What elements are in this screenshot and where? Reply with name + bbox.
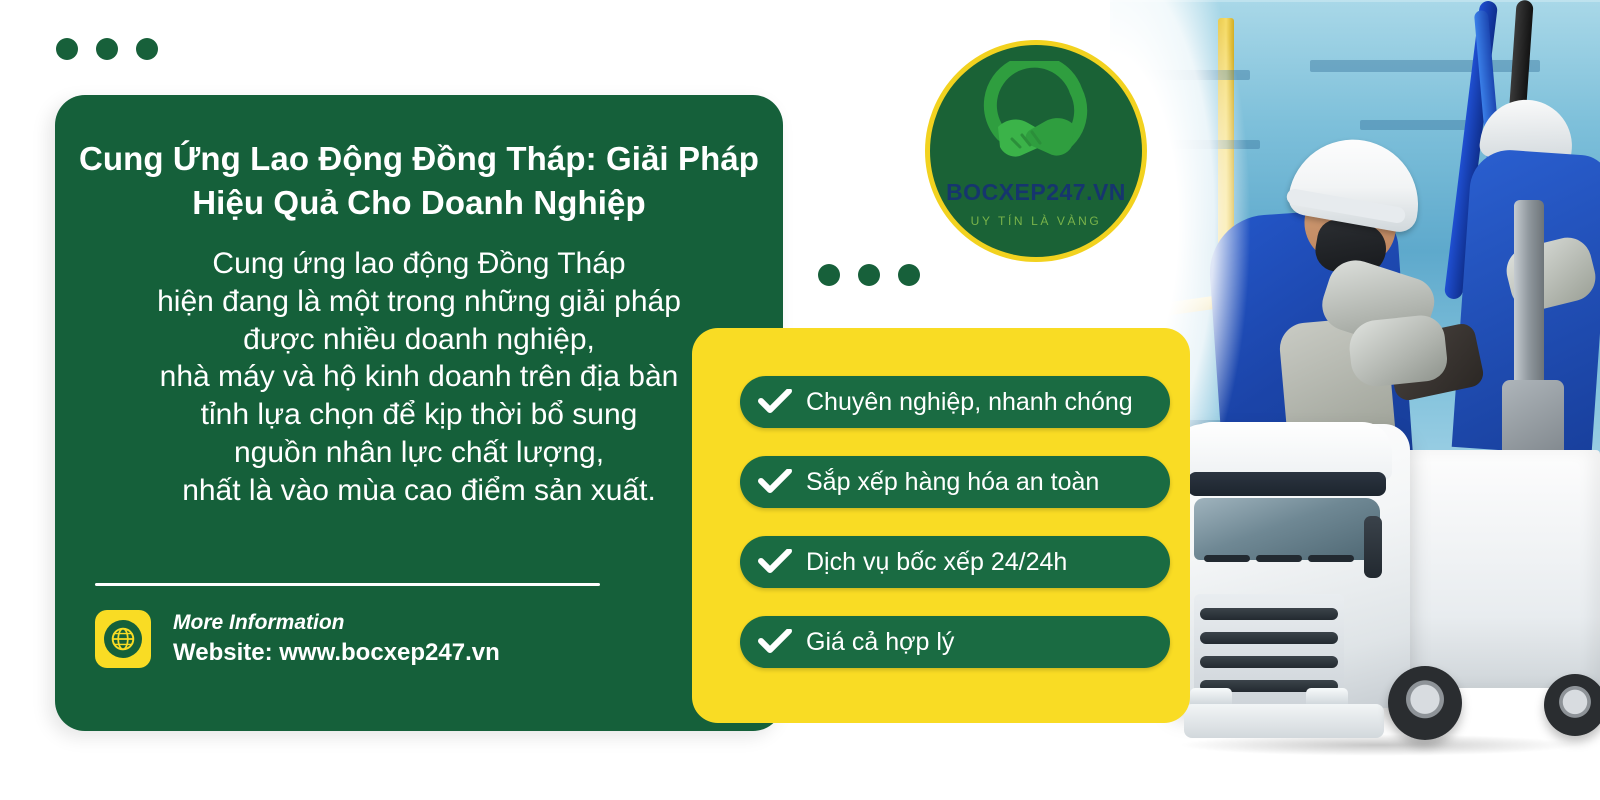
truck-wiper xyxy=(1256,555,1302,562)
website-label[interactable]: Website: www.bocxep247.vn xyxy=(173,639,500,667)
green-content-card: Cung Ứng Lao Động Đồng Tháp: Giải Pháp H… xyxy=(55,95,783,731)
contact-block: More Information Website: www.bocxep247.… xyxy=(95,610,500,668)
truck-wiper xyxy=(1308,555,1354,562)
feature-item[interactable]: Chuyên nghiệp, nhanh chóng xyxy=(740,376,1170,428)
worker-glove xyxy=(1347,313,1449,389)
feature-item[interactable]: Giá cả hợp lý xyxy=(740,616,1170,668)
decor-dots-top-left xyxy=(56,38,158,60)
feature-label: Sắp xếp hàng hóa an toàn xyxy=(806,468,1099,497)
handshake-icon xyxy=(972,61,1100,177)
decor-dots-middle xyxy=(818,264,920,286)
feature-label: Dịch vụ bốc xếp 24/24h xyxy=(806,548,1067,577)
decor-dot xyxy=(136,38,158,60)
card-body-text: Cung ứng lao động Đồng Tháp hiện đang là… xyxy=(55,245,783,510)
factory-rack xyxy=(1310,60,1540,72)
logo-name: BOCXEP247.VN xyxy=(946,179,1126,206)
globe-icon xyxy=(95,610,151,668)
more-information-label: More Information xyxy=(173,611,500,635)
feature-list: Chuyên nghiệp, nhanh chóng Sắp xếp hàng … xyxy=(740,376,1170,668)
truck-wiper xyxy=(1204,555,1250,562)
check-icon xyxy=(758,629,792,655)
truck-wheel xyxy=(1544,674,1600,736)
feature-item[interactable]: Dịch vụ bốc xếp 24/24h xyxy=(740,536,1170,588)
feature-label: Chuyên nghiệp, nhanh chóng xyxy=(806,388,1133,417)
truck-windshield xyxy=(1194,498,1380,560)
truck-trailer xyxy=(1386,450,1600,688)
check-icon xyxy=(758,549,792,575)
feature-panel: Chuyên nghiệp, nhanh chóng Sắp xếp hàng … xyxy=(692,328,1190,723)
decor-dot xyxy=(96,38,118,60)
promo-banner: Cung Ứng Lao Động Đồng Tháp: Giải Pháp H… xyxy=(0,0,1600,800)
card-title: Cung Ứng Lao Động Đồng Tháp: Giải Pháp H… xyxy=(55,137,783,224)
logo-tagline: UY TÍN LÀ VÀNG xyxy=(971,214,1102,228)
feature-label: Giá cả hợp lý xyxy=(806,628,954,657)
feature-item[interactable]: Sắp xếp hàng hóa an toàn xyxy=(740,456,1170,508)
truck-mirror xyxy=(1364,516,1382,578)
decor-dot xyxy=(818,264,840,286)
card-divider xyxy=(95,583,600,586)
check-icon xyxy=(758,469,792,495)
decor-dot xyxy=(858,264,880,286)
truck-photo xyxy=(1148,412,1600,772)
decor-dot xyxy=(56,38,78,60)
check-icon xyxy=(758,389,792,415)
company-logo[interactable]: BOCXEP247.VN UY TÍN LÀ VÀNG xyxy=(925,40,1147,262)
truck-bumper xyxy=(1184,704,1384,738)
decor-dot xyxy=(898,264,920,286)
truck-sun-visor xyxy=(1188,472,1386,496)
truck-wheel xyxy=(1388,666,1462,740)
